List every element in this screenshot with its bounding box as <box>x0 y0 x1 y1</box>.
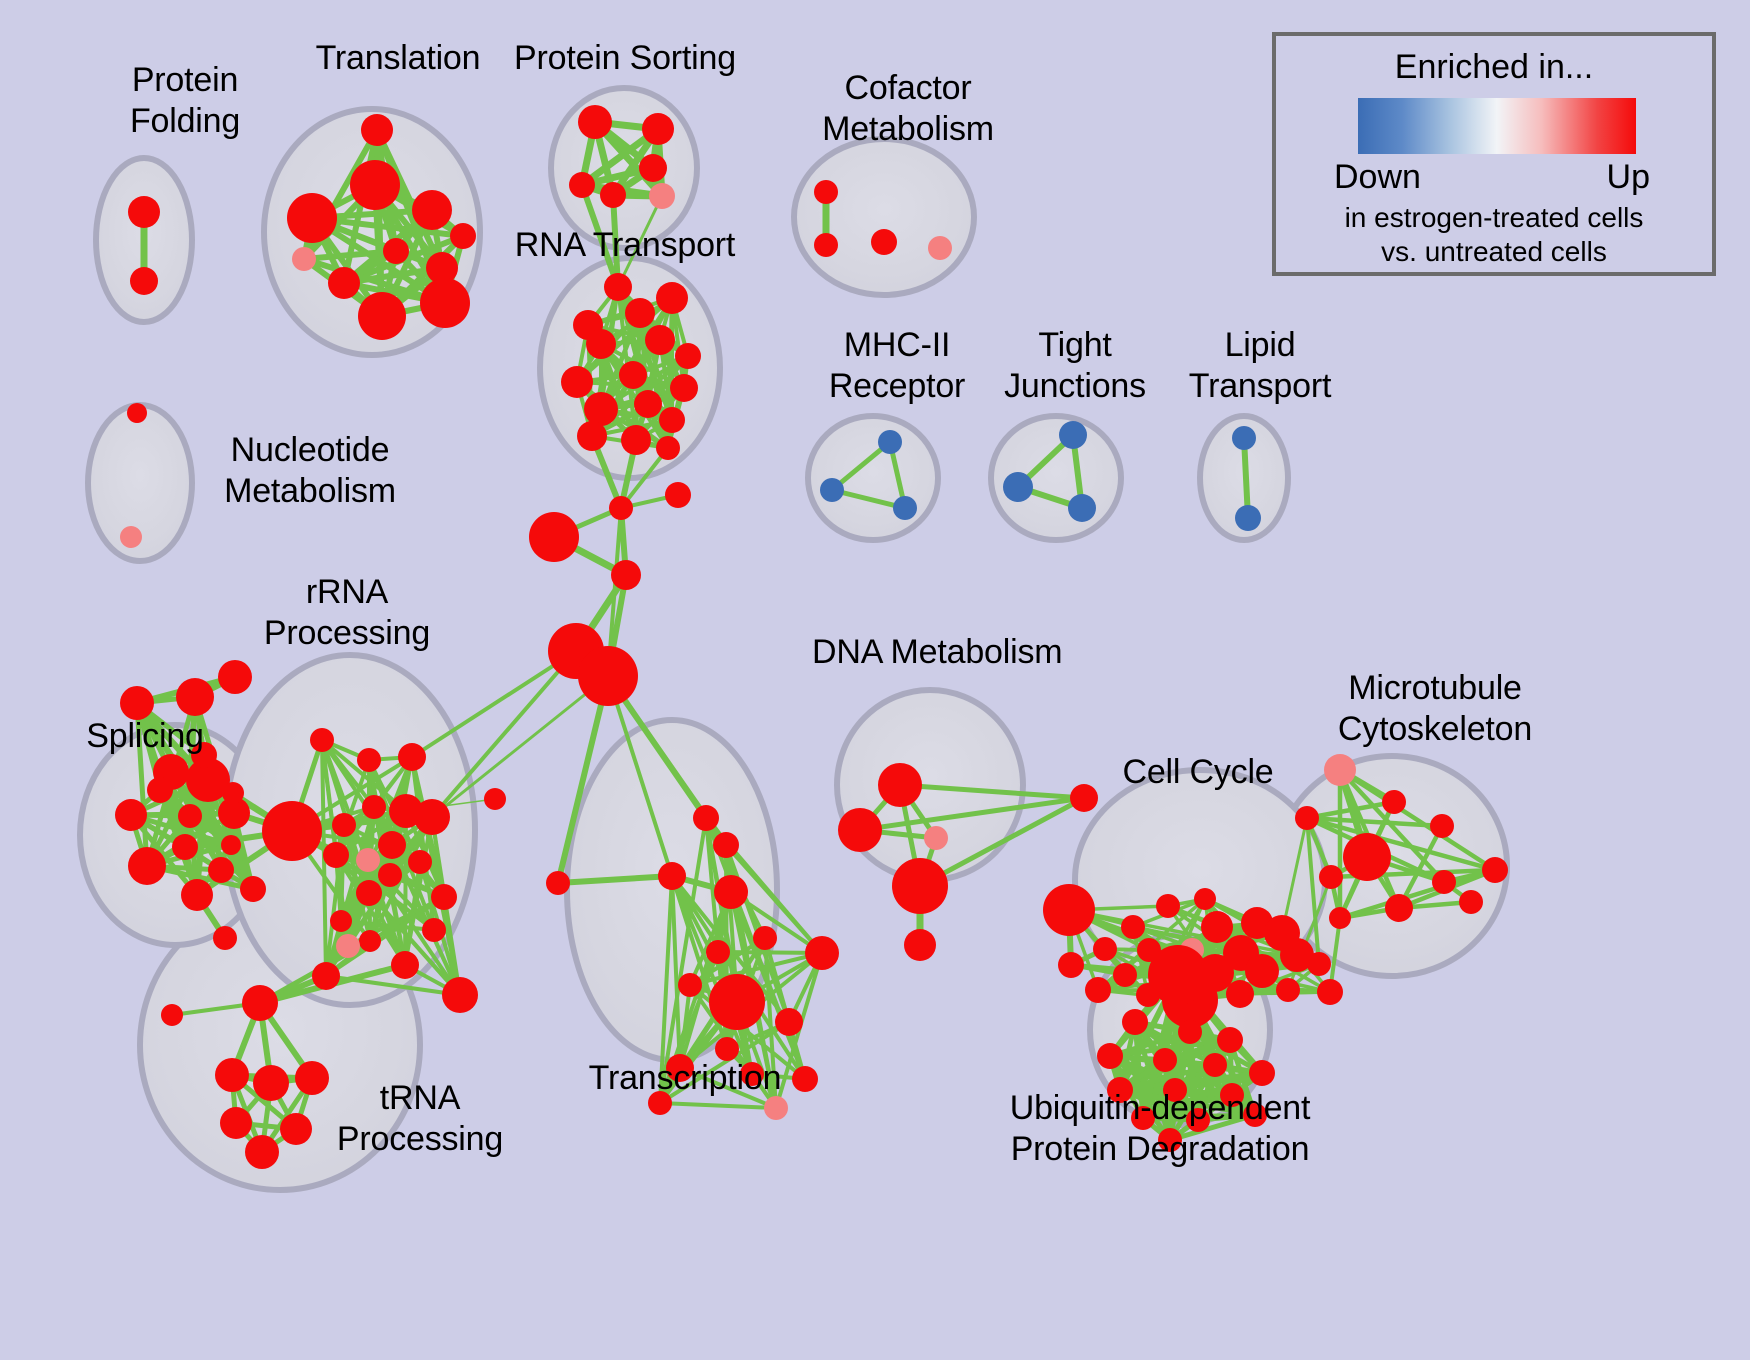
legend-title: Enriched in... <box>1276 48 1712 87</box>
legend-colorbar <box>1358 98 1636 154</box>
cluster-label-protein-folding: Protein Folding <box>85 60 285 142</box>
cluster-label-rrna-processing: rRNA Processing <box>252 572 442 654</box>
legend-up-label: Up <box>1607 158 1650 197</box>
cluster-label-transcription: Transcription <box>575 1058 795 1099</box>
cluster-label-cell-cycle: Cell Cycle <box>1103 752 1293 793</box>
halo-mhc-ii <box>808 416 938 540</box>
cluster-label-splicing: Splicing <box>60 716 230 757</box>
cluster-label-mhc-ii-receptor: MHC-II Receptor <box>802 325 992 407</box>
cluster-label-tight-junctions: Tight Junctions <box>985 325 1165 407</box>
cluster-label-protein-sorting: Protein Sorting <box>505 38 745 79</box>
legend-box: Enriched in... Down Up in estrogen-treat… <box>1272 32 1716 276</box>
cluster-label-cofactor-metabolism: Cofactor Metabolism <box>798 68 1018 150</box>
halo-protein-sorting <box>551 88 697 248</box>
cluster-label-microtubule-cytoskeleton: Microtubule Cytoskeleton <box>1310 668 1560 750</box>
cluster-label-dna-metabolism: DNA Metabolism <box>812 632 1062 673</box>
cluster-label-nucleotide-metabolism: Nucleotide Metabolism <box>200 430 420 512</box>
cluster-label-rna-transport: RNA Transport <box>510 225 740 266</box>
cluster-label-ubiquitin-degradation: Ubiquitin-dependent Protein Degradation <box>995 1088 1325 1170</box>
halo-cofactor <box>794 139 974 295</box>
cluster-label-translation: Translation <box>288 38 508 79</box>
enrichment-network-figure: Protein FoldingTranslationProtein Sortin… <box>0 0 1750 1360</box>
cluster-label-trna-processing: tRNA Processing <box>320 1078 520 1160</box>
cluster-label-lipid-transport: Lipid Transport <box>1170 325 1350 407</box>
legend-subtitle-line2: vs. untreated cells <box>1276 236 1712 268</box>
legend-down-label: Down <box>1334 158 1421 197</box>
legend-subtitle-line1: in estrogen-treated cells <box>1276 202 1712 234</box>
